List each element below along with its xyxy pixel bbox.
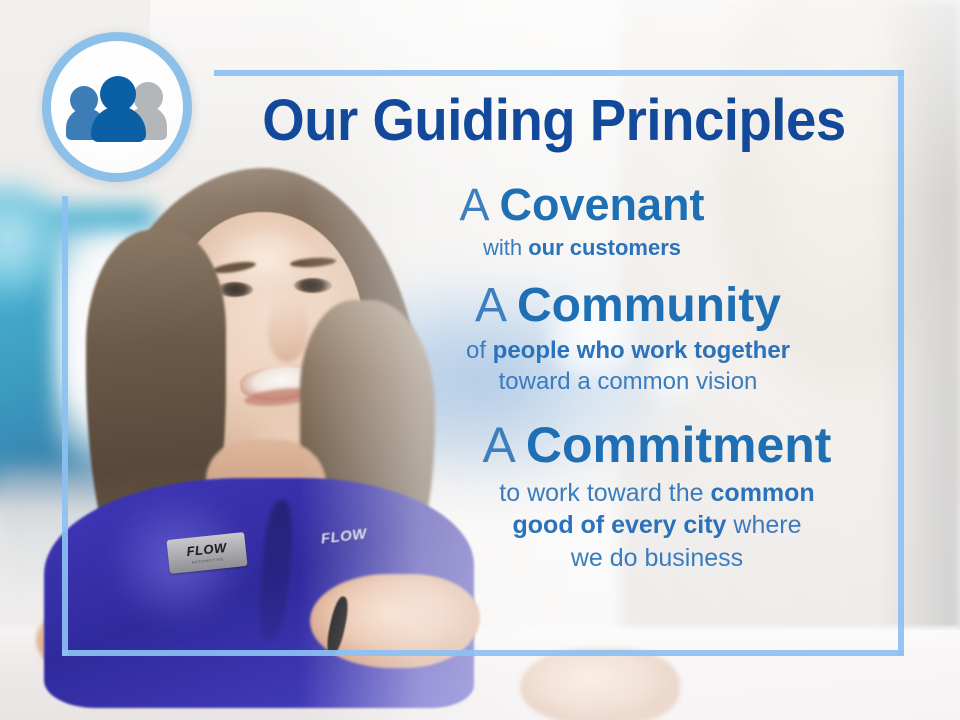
frame-border-left	[62, 196, 68, 656]
principle-commitment: ACommitment to work toward the commongoo…	[300, 418, 904, 575]
subtext-run: with	[483, 235, 528, 260]
frame-border-bottom	[62, 650, 904, 656]
subtext-run: we do business	[571, 544, 743, 572]
principle-community-article: A	[475, 279, 507, 332]
principle-community: ACommunity of people who work togetherto…	[300, 280, 904, 398]
subtext-run: toward a common vision	[499, 368, 758, 395]
page-title: Our Guiding Principles	[234, 92, 873, 150]
principle-community-word: Community	[517, 279, 781, 332]
principle-commitment-article: A	[483, 417, 516, 473]
subtext-emphasis: people who work together	[493, 337, 790, 364]
principles-list: ACovenant with our customers ACommunity …	[300, 180, 904, 580]
subtext-run: where	[726, 511, 801, 539]
guiding-principles-graphic: FLOW AUTOMOTIVE FLOW Our Guiding Princip…	[0, 0, 960, 720]
photo-second-person-hand	[520, 648, 680, 720]
principle-subtext-line: to work toward the common	[410, 477, 904, 510]
people-badge	[42, 32, 192, 182]
principle-community-title: ACommunity	[352, 280, 904, 333]
principle-subtext-line: we do business	[410, 542, 904, 575]
frame-border-top	[214, 70, 904, 76]
photo-subject-shirt-highlight	[110, 500, 260, 650]
subtext-run: of	[466, 337, 493, 364]
subtext-emphasis: good of every city	[513, 511, 727, 539]
principle-commitment-title: ACommitment	[410, 418, 904, 473]
principle-commitment-subtext: to work toward the commongood of every c…	[410, 477, 904, 575]
people-group-icon	[69, 76, 165, 138]
principle-commitment-word: Commitment	[526, 417, 832, 473]
principle-covenant: ACovenant with our customers	[300, 180, 904, 262]
principle-covenant-title: ACovenant	[300, 180, 864, 230]
principle-covenant-article: A	[459, 179, 489, 230]
principle-covenant-subtext: with our customers	[300, 234, 864, 262]
principle-covenant-word: Covenant	[499, 179, 704, 230]
principle-subtext-line: of people who work together	[352, 336, 904, 367]
principle-subtext-line: with our customers	[300, 234, 864, 262]
principle-subtext-line: toward a common vision	[352, 367, 904, 398]
principle-subtext-line: good of every city where	[410, 509, 904, 542]
subtext-emphasis: our customers	[528, 235, 681, 260]
subtext-emphasis: common	[711, 479, 815, 507]
subtext-run: to work toward the	[499, 479, 710, 507]
principle-community-subtext: of people who work togethertoward a comm…	[352, 336, 904, 397]
